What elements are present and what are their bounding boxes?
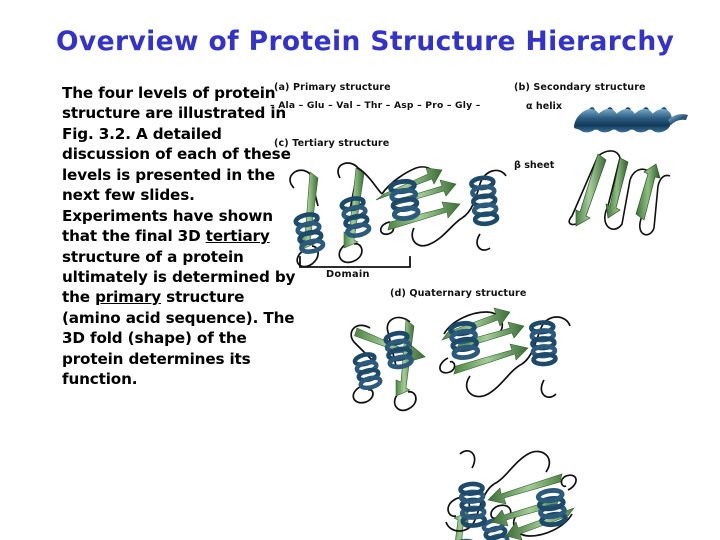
protein-structure-figure: (a) Primary structure – Ala – Glu – Val …: [262, 78, 720, 520]
body-text-part1: The four levels of protein structure are…: [62, 84, 291, 245]
panel-b-label: (b) Secondary structure: [514, 82, 646, 93]
quaternary-structure-illustration: [340, 306, 630, 506]
alpha-helix-illustration: [572, 100, 690, 140]
slide-canvas: Overview of Protein Structure Hierarchy …: [0, 0, 720, 540]
alpha-helix-label: α helix: [526, 101, 562, 112]
body-emphasis-primary: primary: [95, 288, 161, 306]
panel-c-label: (c) Tertiary structure: [274, 138, 389, 149]
beta-sheet-illustration: [552, 144, 682, 244]
page-title: Overview of Protein Structure Hierarchy: [56, 26, 696, 57]
panel-a-label: (a) Primary structure: [274, 82, 391, 93]
body-emphasis-tertiary: tertiary: [206, 227, 270, 245]
panel-d-label: (d) Quaternary structure: [390, 288, 527, 299]
domain-label: Domain: [326, 269, 370, 280]
primary-sequence: – Ala – Glu – Val – Thr – Asp – Pro – Gl…: [270, 100, 481, 111]
domain-bracket: [298, 256, 412, 270]
